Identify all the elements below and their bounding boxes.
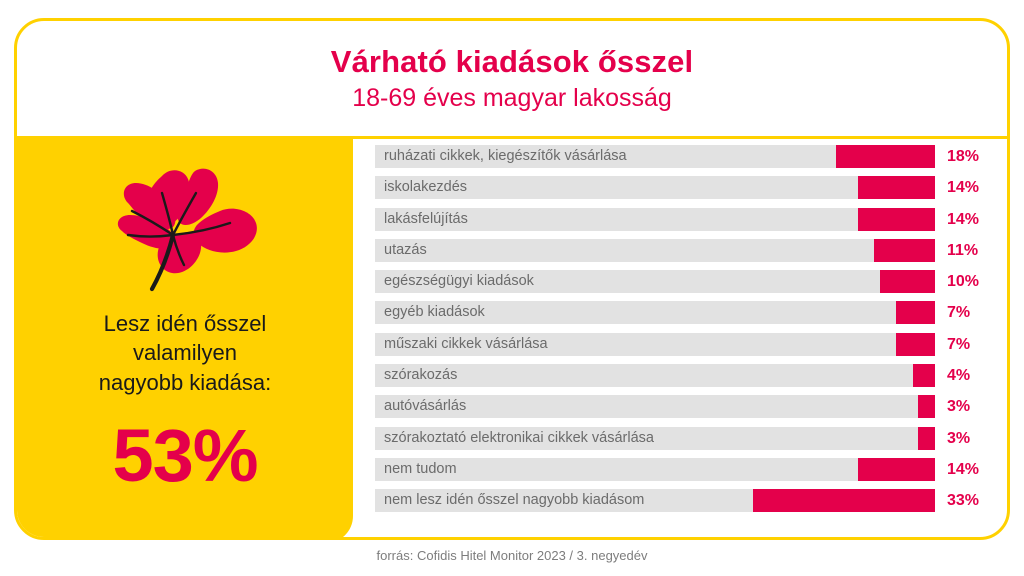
bar-row: lakásfelújítás14% xyxy=(375,208,983,231)
bar-row-label: lakásfelújítás xyxy=(384,208,468,231)
bar-row: egészségügyi kiadások10% xyxy=(375,270,983,293)
bar-row: nem tudom14% xyxy=(375,458,983,481)
bar-row-label: egészségügyi kiadások xyxy=(384,270,534,293)
bar-row: műszaki cikkek vásárlása7% xyxy=(375,333,983,356)
bar-fill xyxy=(858,208,935,231)
bar-track xyxy=(375,364,935,387)
bar-fill xyxy=(753,489,935,512)
bar-row-label: nem lesz idén ősszel nagyobb kiadásom xyxy=(384,489,644,512)
summary-caption: Lesz idén ősszel valamilyen nagyobb kiad… xyxy=(99,309,271,397)
header: Várható kiadások ősszel 18-69 éves magya… xyxy=(17,21,1007,136)
bar-row-value: 33% xyxy=(947,489,979,512)
bar-row-label: utazás xyxy=(384,239,427,262)
bar-row-label: nem tudom xyxy=(384,458,457,481)
bar-track xyxy=(375,458,935,481)
infographic-card: Várható kiadások ősszel 18-69 éves magya… xyxy=(14,18,1010,540)
bar-row: ruházati cikkek, kiegészítők vásárlása18… xyxy=(375,145,983,168)
page-title: Várható kiadások ősszel xyxy=(331,44,693,80)
bar-row-value: 18% xyxy=(947,145,979,168)
bar-row-label: ruházati cikkek, kiegészítők vásárlása xyxy=(384,145,627,168)
bar-row-value: 7% xyxy=(947,333,970,356)
bar-row-label: autóvásárlás xyxy=(384,395,466,418)
page-subtitle: 18-69 éves magyar lakosság xyxy=(352,83,672,113)
bar-row-label: szórakozás xyxy=(384,364,457,387)
bar-row: iskolakezdés14% xyxy=(375,176,983,199)
bar-row: szórakoztató elektronikai cikkek vásárlá… xyxy=(375,427,983,450)
bar-row-value: 14% xyxy=(947,176,979,199)
bar-fill xyxy=(836,145,935,168)
summary-panel: Lesz idén ősszel valamilyen nagyobb kiad… xyxy=(17,139,353,540)
bar-fill xyxy=(858,458,935,481)
chestnut-leaf-icon xyxy=(100,163,270,295)
bar-row-value: 3% xyxy=(947,395,970,418)
bar-row: szórakozás4% xyxy=(375,364,983,387)
bar-row-value: 7% xyxy=(947,301,970,324)
summary-caption-line-2: valamilyen xyxy=(99,338,271,367)
bar-row-label: iskolakezdés xyxy=(384,176,467,199)
bar-fill xyxy=(896,301,935,324)
bar-chart: ruházati cikkek, kiegészítők vásárlása18… xyxy=(375,145,983,540)
bar-row: utazás11% xyxy=(375,239,983,262)
bar-fill xyxy=(918,427,935,450)
bar-fill xyxy=(874,239,935,262)
bar-row-label: egyéb kiadások xyxy=(384,301,485,324)
bar-row-label: szórakoztató elektronikai cikkek vásárlá… xyxy=(384,427,654,450)
bar-row: egyéb kiadások7% xyxy=(375,301,983,324)
bar-fill xyxy=(896,333,935,356)
bar-row-label: műszaki cikkek vásárlása xyxy=(384,333,548,356)
bar-row-value: 4% xyxy=(947,364,970,387)
bar-row-value: 14% xyxy=(947,458,979,481)
bar-row-value: 3% xyxy=(947,427,970,450)
bar-fill xyxy=(858,176,935,199)
bar-row-value: 14% xyxy=(947,208,979,231)
bar-fill xyxy=(918,395,935,418)
bar-row: autóvásárlás3% xyxy=(375,395,983,418)
source-note: forrás: Cofidis Hitel Monitor 2023 / 3. … xyxy=(0,548,1024,563)
bar-row: nem lesz idén ősszel nagyobb kiadásom33% xyxy=(375,489,983,512)
bar-fill xyxy=(913,364,935,387)
bar-row-value: 10% xyxy=(947,270,979,293)
bar-fill xyxy=(880,270,935,293)
summary-caption-line-1: Lesz idén ősszel xyxy=(99,309,271,338)
summary-caption-line-3: nagyobb kiadása: xyxy=(99,368,271,397)
summary-percentage: 53% xyxy=(112,419,257,493)
bar-row-value: 11% xyxy=(947,239,978,262)
bar-track xyxy=(375,239,935,262)
